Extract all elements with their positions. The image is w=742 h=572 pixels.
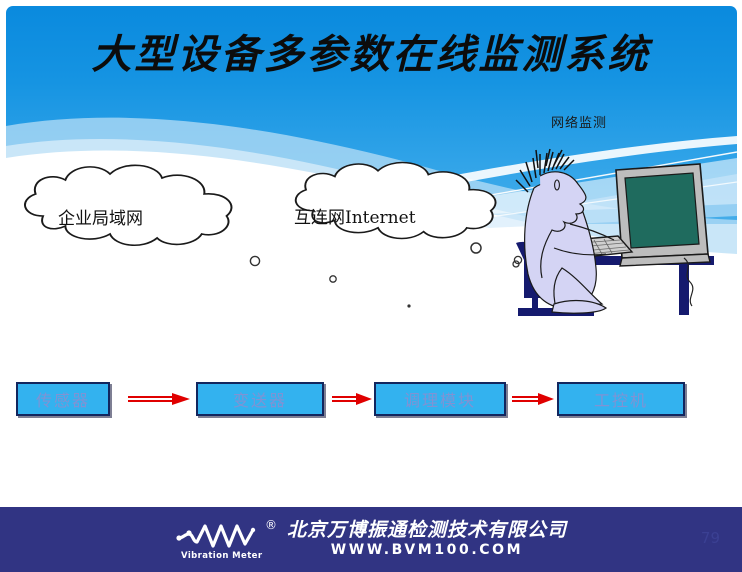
right-arrow-icon: [128, 392, 190, 406]
flow-box-industrial-computer[interactable]: 工控机: [557, 382, 685, 416]
page-number: 79: [701, 529, 720, 547]
waveform-logo-icon: [175, 520, 279, 554]
thought-bubble: [250, 256, 259, 265]
slide-canvas: 大型设备多参数在线监测系统 网络监测 企业局域网 互连网Internet: [0, 0, 742, 572]
flow-box-conditioning-module[interactable]: 调理模块: [374, 382, 506, 416]
footer-text-block: 北京万博振通检测技术有限公司 WWW.BVM100.COM: [287, 521, 567, 558]
right-arrow-icon: [512, 392, 554, 406]
flow-box-sensor[interactable]: 传感器: [16, 382, 110, 416]
right-arrow-icon: [332, 392, 372, 406]
footer-bar: ® Vibration Meter 北京万博振通检测技术有限公司 WWW.BVM…: [0, 507, 742, 572]
thought-bubble: [407, 304, 410, 307]
thought-bubble: [330, 276, 336, 282]
person-at-computer-illustration: [494, 148, 740, 320]
company-name: 北京万博振通检测技术有限公司: [287, 521, 567, 541]
company-logo: ® Vibration Meter: [175, 518, 279, 562]
company-website: WWW.BVM100.COM: [287, 542, 567, 558]
registered-trademark-icon: ®: [265, 518, 277, 532]
cloud-label-enterprise-lan: 企业局域网: [58, 204, 143, 229]
cloud-label-internet: 互连网Internet: [294, 203, 416, 228]
flow-box-transmitter[interactable]: 变送器: [196, 382, 324, 416]
thought-bubble: [471, 243, 481, 253]
logo-subtitle: Vibration Meter: [181, 551, 262, 561]
